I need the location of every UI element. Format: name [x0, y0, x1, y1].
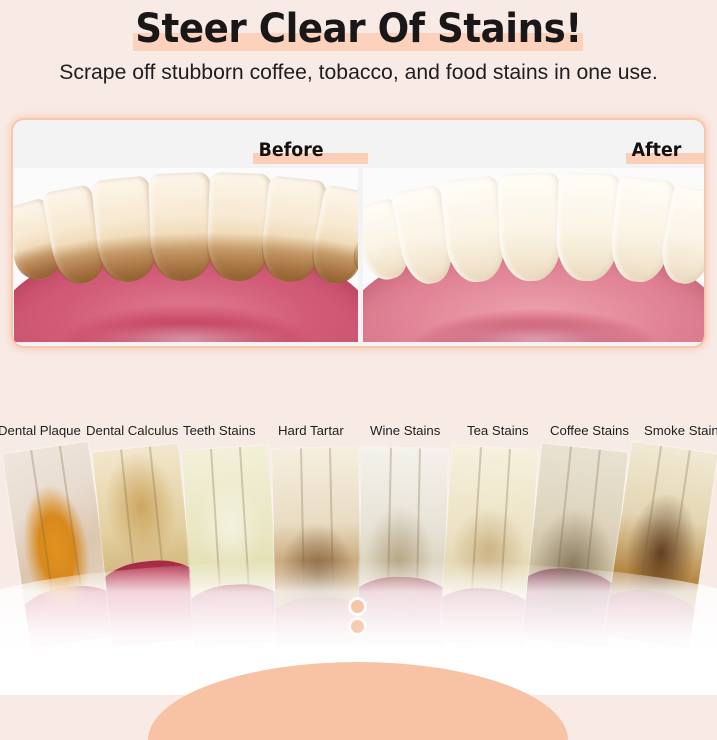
caption-3: Hard Tartar	[278, 421, 344, 441]
tooth	[497, 172, 563, 282]
thumbnail-stain	[358, 447, 448, 645]
after-label: After	[626, 138, 706, 164]
thumbnail-stain	[272, 447, 362, 645]
after-gum-shine	[427, 321, 643, 342]
thumbnail-2[interactable]	[182, 445, 280, 646]
before-after-card: Before After	[11, 118, 706, 348]
caption-6: Coffee Stains	[550, 421, 629, 441]
tooth	[555, 172, 621, 282]
thumbnail-3[interactable]	[272, 447, 362, 645]
page-subtitle: Scrape off stubborn coffee, tobacco, and…	[5, 58, 711, 86]
caption-7: Smoke Stains	[644, 421, 717, 441]
before-photo	[14, 168, 358, 342]
carousel-dot-1[interactable]	[351, 620, 364, 633]
page-title: Steer Clear Of Stains!	[25, 6, 692, 52]
caption-4: Wine Stains	[370, 421, 440, 441]
thumbnail-stain	[182, 445, 280, 646]
tooth	[148, 172, 214, 282]
tooth	[206, 172, 272, 282]
caption-5: Tea Stains	[467, 421, 529, 441]
thumbnail-4[interactable]	[358, 447, 448, 645]
after-label-text: After	[626, 138, 706, 164]
condition-thumbnail-fan	[0, 440, 717, 695]
caption-2: Teeth Stains	[183, 421, 256, 441]
before-label: Before	[253, 138, 368, 164]
after-photo	[363, 168, 706, 342]
before-gum-shine	[78, 321, 294, 342]
header-section: Steer Clear Of Stains! Scrape off stubbo…	[0, 0, 717, 108]
carousel-dot-0[interactable]	[351, 600, 364, 613]
caption-1: Dental Calculus	[86, 421, 178, 441]
caption-0: Dental Plaque	[0, 421, 81, 441]
before-label-text: Before	[253, 138, 361, 164]
